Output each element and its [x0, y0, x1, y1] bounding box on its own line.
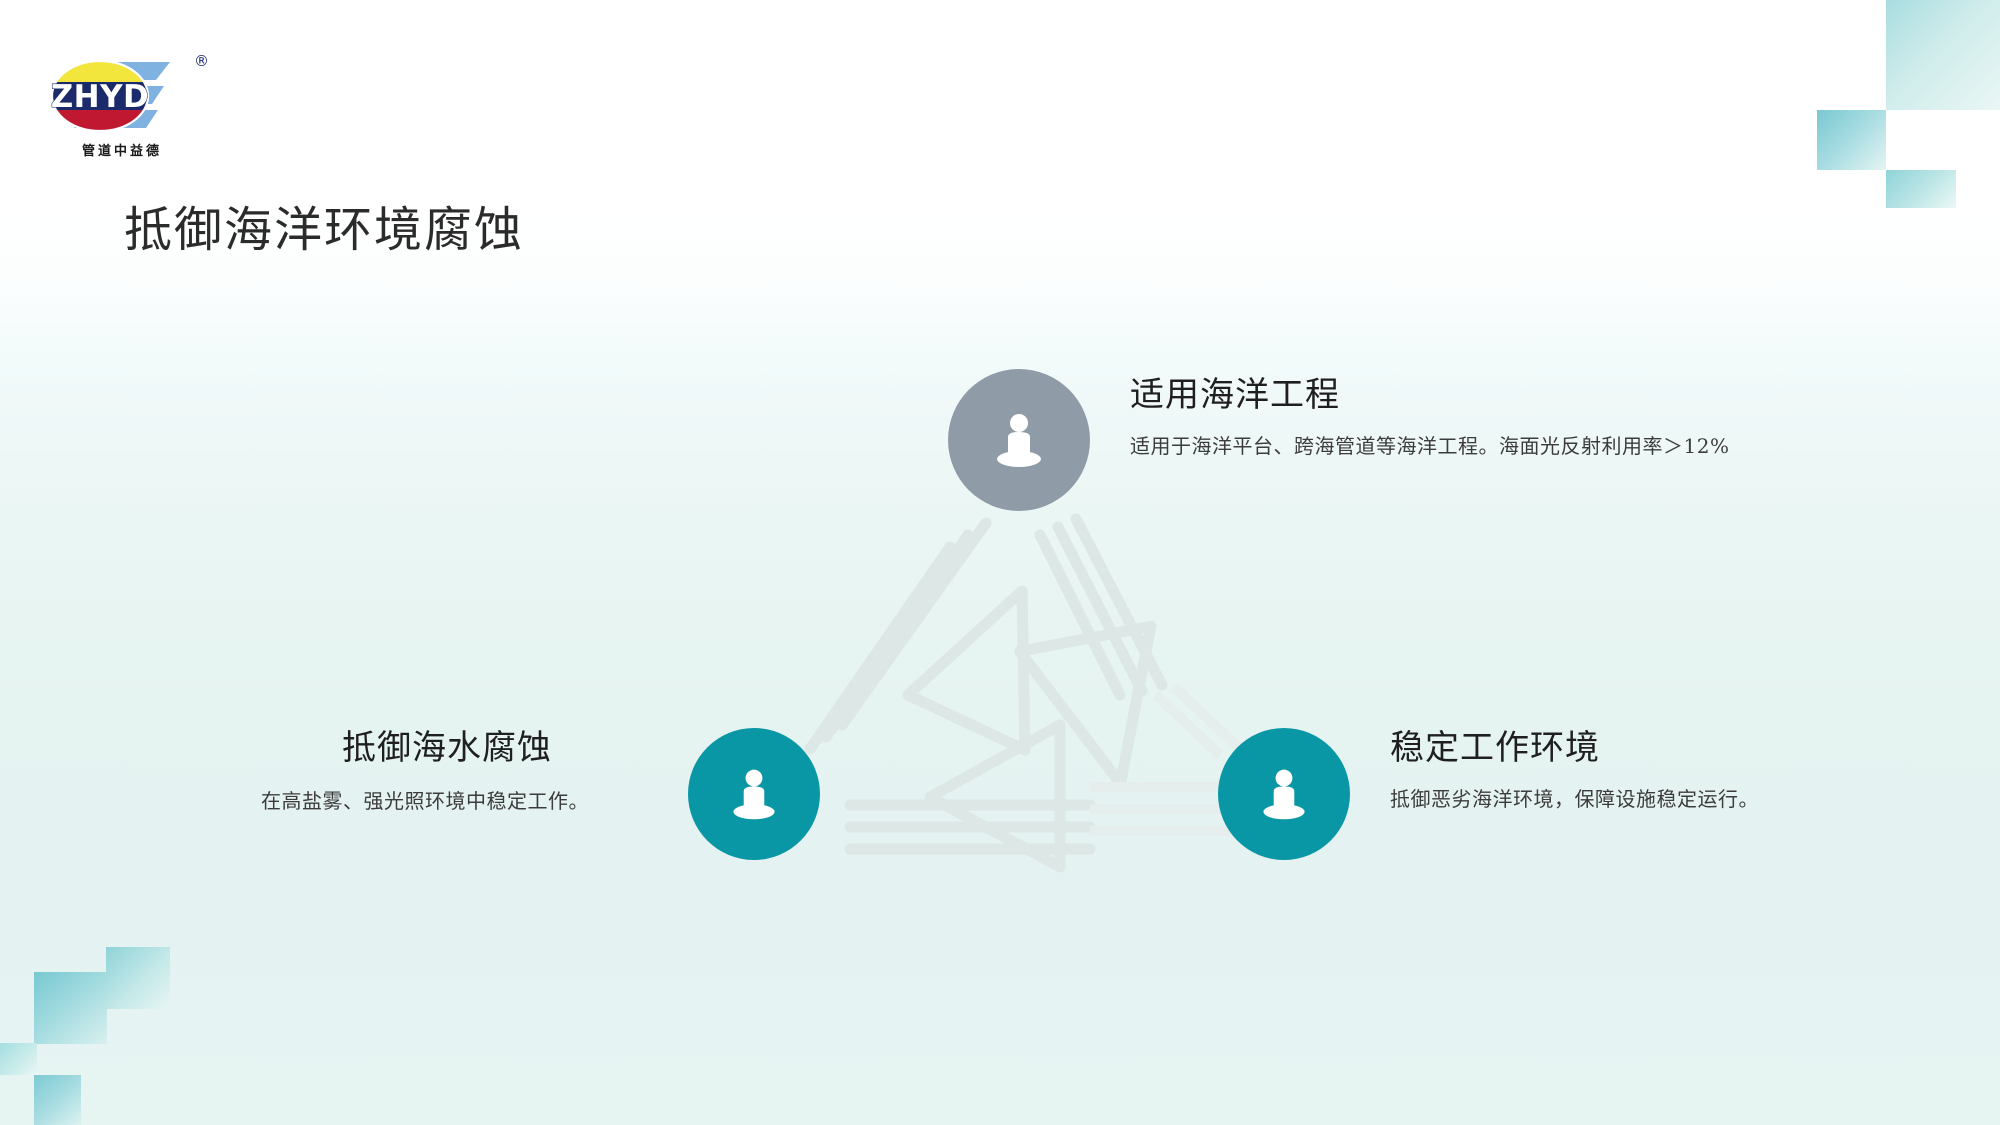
- node-left-circle[interactable]: [688, 728, 820, 860]
- node-right-text-block: 稳定工作环境 抵御恶劣海洋环境，保障设施稳定运行。: [1390, 728, 1910, 815]
- node-left[interactable]: [688, 728, 820, 860]
- svg-text:®: ®: [194, 52, 209, 70]
- node-left-description: 在高盐雾、强光照环境中稳定工作。: [190, 785, 660, 817]
- logo-subtitle: 管道中益德: [52, 140, 192, 159]
- decorative-square-bottom-left-4: [34, 1075, 81, 1125]
- node-top-title: 适用海洋工程: [1130, 375, 1750, 416]
- person-icon: [988, 409, 1050, 471]
- decorative-square-top-right-1: [1886, 0, 2000, 110]
- decorative-square-bottom-left-2: [34, 972, 107, 1044]
- slide-canvas: ZHYD ® 管道中益德 抵御海洋环境腐蚀: [0, 0, 2000, 1125]
- page-title: 抵御海洋环境腐蚀: [124, 190, 524, 260]
- node-top-text-block: 适用海洋工程 适用于海洋平台、跨海管道等海洋工程。海面光反射利用率＞12%: [1130, 375, 1750, 462]
- node-right-circle[interactable]: [1218, 728, 1350, 860]
- node-right-description: 抵御恶劣海洋环境，保障设施稳定运行。: [1390, 783, 1910, 815]
- person-icon: [725, 765, 783, 823]
- node-left-title: 抵御海水腐蚀: [234, 728, 660, 769]
- node-right[interactable]: [1218, 728, 1350, 860]
- node-top-description: 适用于海洋平台、跨海管道等海洋工程。海面光反射利用率＞12%: [1130, 430, 1750, 462]
- decorative-square-top-right-2: [1817, 110, 1886, 170]
- decorative-square-bottom-left-3: [0, 1043, 37, 1075]
- decorative-square-top-right-3: [1886, 170, 1956, 208]
- svg-text:ZHYD: ZHYD: [51, 79, 150, 115]
- node-left-text-block: 抵御海水腐蚀 在高盐雾、强光照环境中稳定工作。: [190, 728, 660, 817]
- person-icon: [1255, 765, 1313, 823]
- node-top-circle[interactable]: [948, 369, 1090, 511]
- node-top[interactable]: [948, 369, 1090, 511]
- node-right-title: 稳定工作环境: [1390, 728, 1910, 769]
- company-logo: ZHYD ® 管道中益德: [42, 44, 242, 164]
- decorative-square-bottom-left-1: [106, 947, 170, 1009]
